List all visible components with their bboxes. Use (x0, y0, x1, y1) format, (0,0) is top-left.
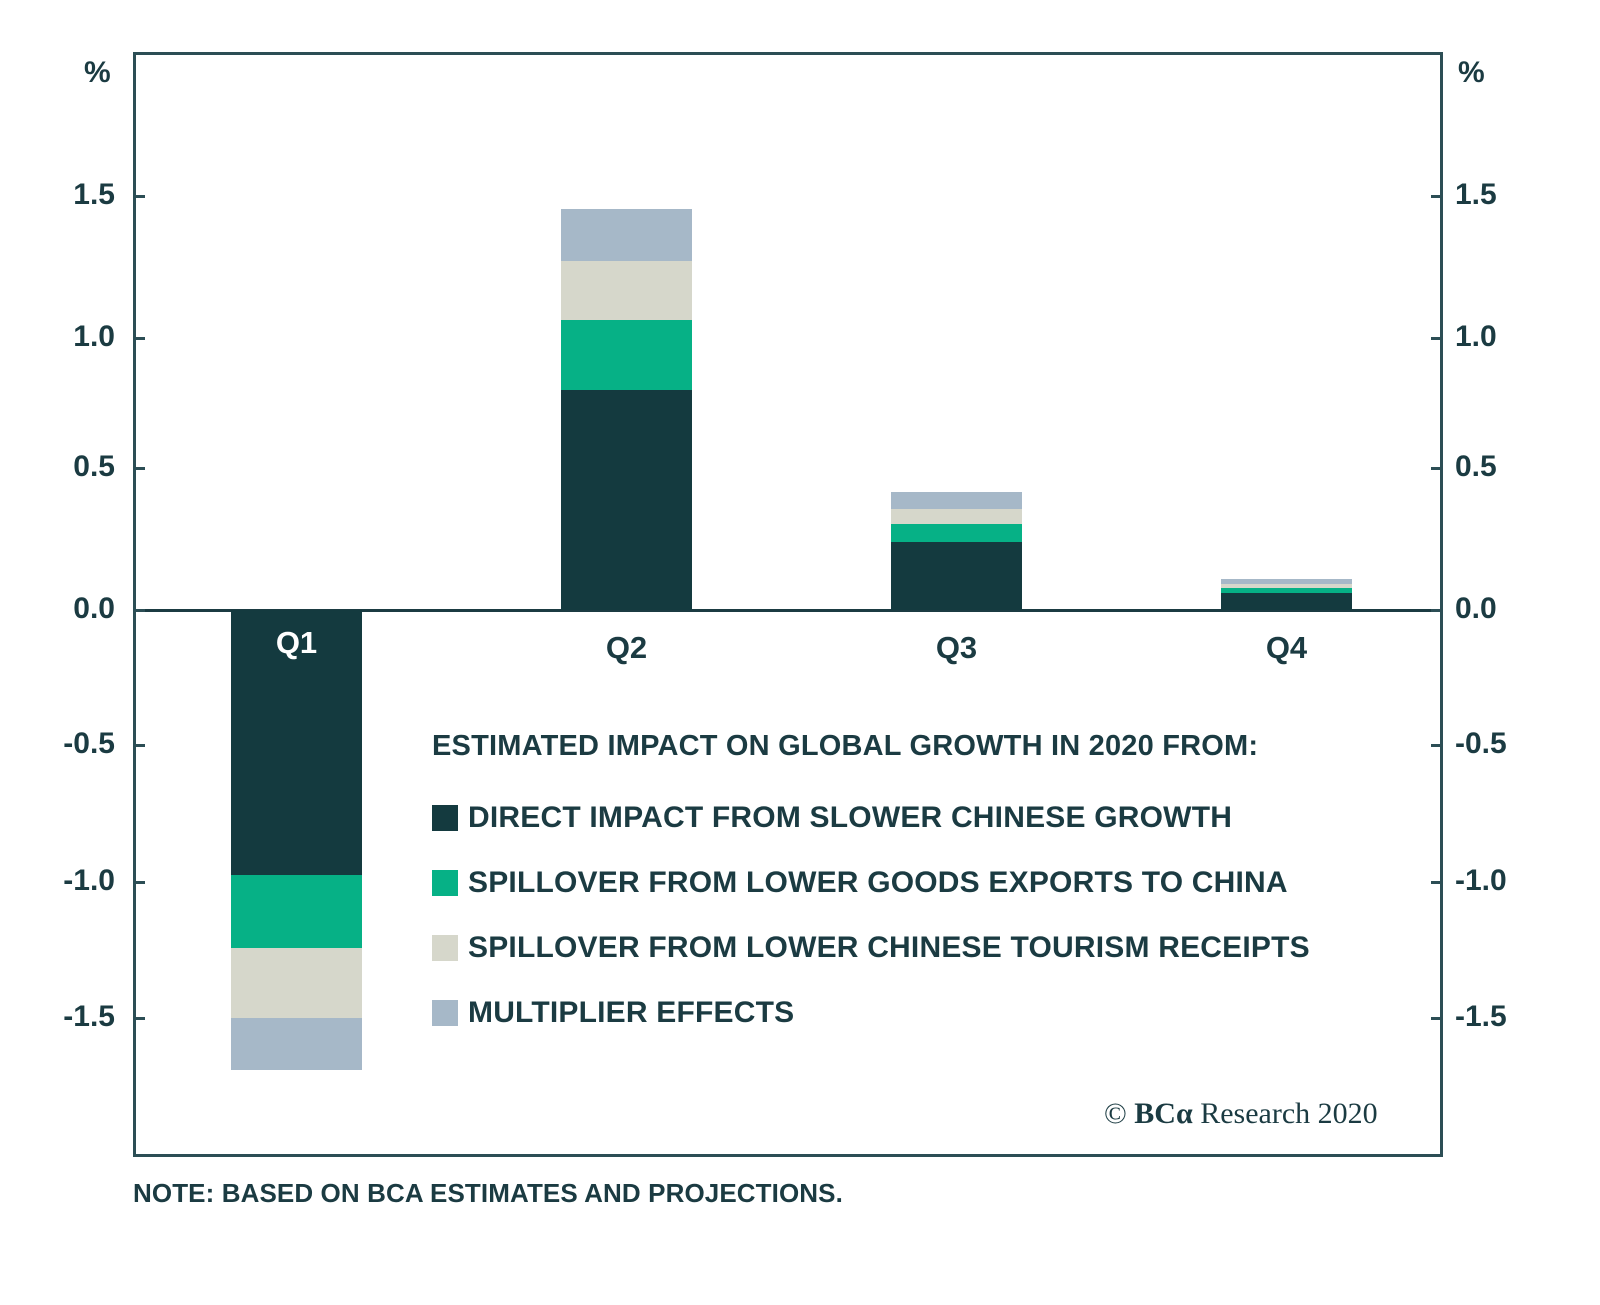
category-label-q2: Q2 (561, 632, 692, 663)
chart-legend: ESTIMATED IMPACT ON GLOBAL GROWTH IN 202… (432, 730, 1310, 1063)
tick-mark-left-5 (133, 881, 145, 884)
tick-mark-left-0 (133, 195, 145, 198)
left-axis-unit-label: % (84, 56, 110, 90)
tick-label-left-1: 1.0 (0, 322, 115, 352)
tick-label-left-6: -1.5 (0, 1002, 115, 1032)
tick-mark-left-6 (133, 1017, 145, 1020)
bar-segment-q3-direct (891, 542, 1022, 610)
tick-mark-right-2 (1431, 467, 1443, 470)
bar-segment-q1-goods (231, 875, 362, 948)
tick-mark-left-2 (133, 467, 145, 470)
legend-label-1: SPILLOVER FROM LOWER GOODS EXPORTS TO CH… (468, 868, 1288, 898)
bar-segment-q3-goods (891, 524, 1022, 542)
chart-note: NOTE: BASED ON BCA ESTIMATES AND PROJECT… (133, 1178, 843, 1209)
legend-swatch-icon-2 (432, 935, 458, 961)
bar-segment-q3-multiplier (891, 492, 1022, 509)
tick-mark-right-5 (1431, 881, 1443, 884)
legend-items: DIRECT IMPACT FROM SLOWER CHINESE GROWTH… (432, 803, 1310, 1028)
tick-mark-left-3 (133, 609, 145, 612)
tick-mark-left-1 (133, 337, 145, 340)
bar-segment-q3-tourism (891, 509, 1022, 524)
tick-mark-right-0 (1431, 195, 1443, 198)
bar-segment-q2-goods (561, 320, 692, 390)
legend-item-1: SPILLOVER FROM LOWER GOODS EXPORTS TO CH… (432, 868, 1310, 898)
bar-segment-q4-direct (1221, 593, 1352, 610)
copyright-credit: © BCα Research 2020 (1104, 1097, 1378, 1131)
category-label-q1: Q1 (231, 627, 362, 658)
legend-swatch-icon-0 (432, 805, 458, 831)
tick-label-right-3: 0.0 (1455, 594, 1575, 624)
tick-mark-right-6 (1431, 1017, 1443, 1020)
tick-label-right-2: 0.5 (1455, 452, 1575, 482)
tick-label-left-5: -1.0 (0, 866, 115, 896)
legend-label-0: DIRECT IMPACT FROM SLOWER CHINESE GROWTH (468, 803, 1232, 833)
tick-label-right-0: 1.5 (1455, 180, 1575, 210)
tick-label-left-2: 0.5 (0, 452, 115, 482)
brand-name: BCα (1134, 1097, 1192, 1130)
tick-label-right-6: -1.5 (1455, 1002, 1575, 1032)
right-axis-unit-label: % (1458, 56, 1484, 90)
legend-title: ESTIMATED IMPACT ON GLOBAL GROWTH IN 202… (432, 730, 1310, 763)
tick-mark-right-1 (1431, 337, 1443, 340)
legend-swatch-icon-1 (432, 870, 458, 896)
bar-segment-q2-direct (561, 390, 692, 610)
tick-label-right-1: 1.0 (1455, 322, 1575, 352)
tick-label-right-4: -0.5 (1455, 729, 1575, 759)
bar-group-q1 (231, 0, 362, 1200)
category-label-q3: Q3 (891, 632, 1022, 663)
bar-segment-q1-multiplier (231, 1018, 362, 1070)
category-label-q4: Q4 (1221, 632, 1352, 663)
tick-label-right-5: -1.0 (1455, 866, 1575, 896)
tick-label-left-3: 0.0 (0, 594, 115, 624)
copyright-symbol: © (1104, 1097, 1127, 1130)
legend-item-2: SPILLOVER FROM LOWER CHINESE TOURISM REC… (432, 933, 1310, 963)
bar-segment-q2-multiplier (561, 209, 692, 261)
bar-segment-q1-tourism (231, 948, 362, 1018)
credit-rest: Research 2020 (1200, 1097, 1377, 1130)
chart-page: % % 1.51.51.01.00.50.50.00.0-0.5-0.5-1.0… (0, 0, 1600, 1305)
tick-label-left-0: 1.5 (0, 180, 115, 210)
bar-segment-q2-tourism (561, 261, 692, 320)
tick-mark-right-4 (1431, 744, 1443, 747)
tick-mark-left-4 (133, 744, 145, 747)
legend-label-3: MULTIPLIER EFFECTS (468, 998, 794, 1028)
legend-label-2: SPILLOVER FROM LOWER CHINESE TOURISM REC… (468, 933, 1310, 963)
tick-mark-right-3 (1431, 609, 1443, 612)
legend-item-3: MULTIPLIER EFFECTS (432, 998, 1310, 1028)
legend-swatch-icon-3 (432, 1000, 458, 1026)
tick-label-left-4: -0.5 (0, 729, 115, 759)
legend-item-0: DIRECT IMPACT FROM SLOWER CHINESE GROWTH (432, 803, 1310, 833)
